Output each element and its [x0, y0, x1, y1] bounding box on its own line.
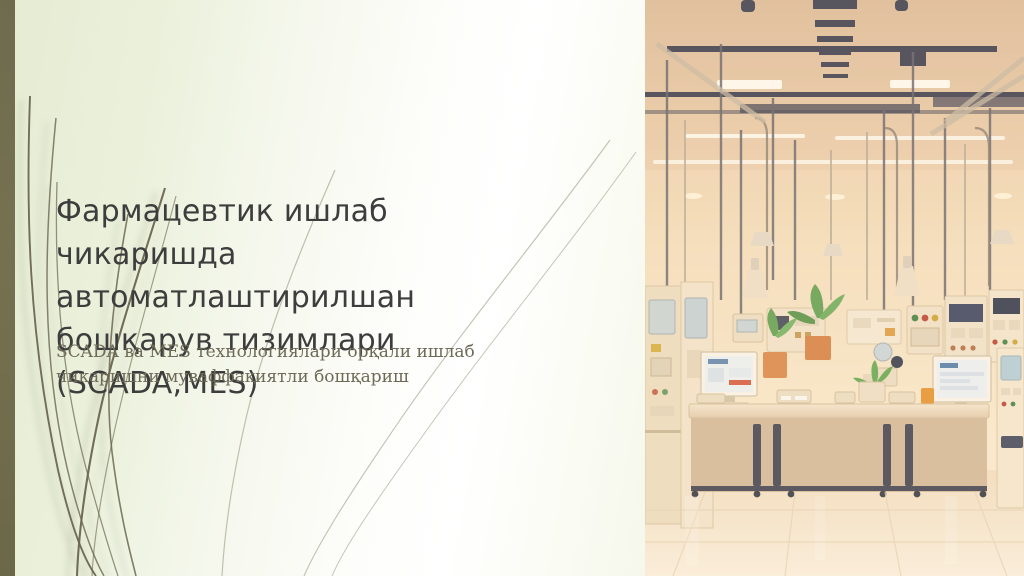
left-olive-edge-bar — [0, 0, 15, 576]
facility-photo-illustration — [645, 0, 1024, 576]
presentation-slide: Фармацевтик ишлаб чикаришда автоматлашти… — [0, 0, 1024, 576]
page-subtitle: SCADA ва MES технологиялари орқали ишлаб… — [56, 340, 506, 390]
facility-photo — [645, 0, 1024, 576]
subtitle-block: SCADA ва MES технологиялари орқали ишлаб… — [56, 340, 506, 390]
